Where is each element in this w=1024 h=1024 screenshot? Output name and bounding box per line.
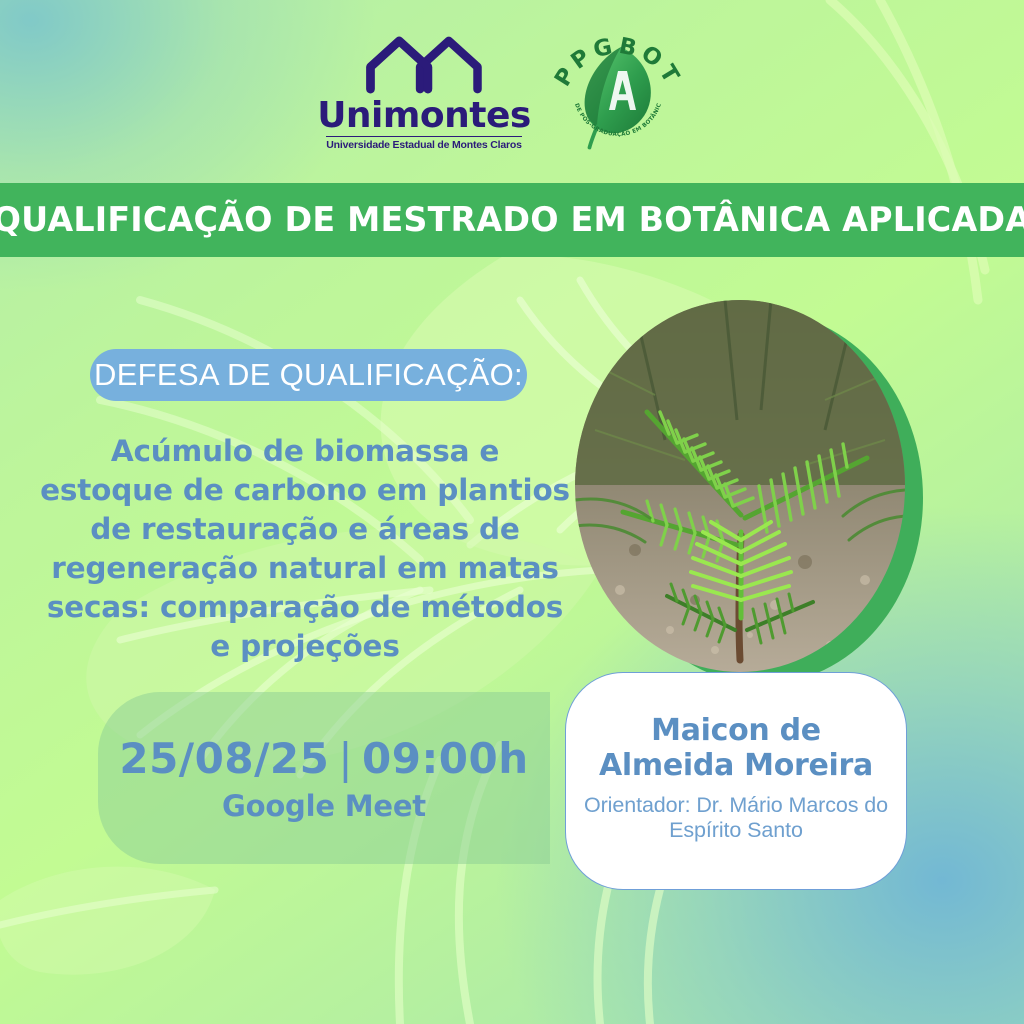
event-datetime-line: 25/08/25|09:00h [119, 734, 528, 783]
event-separator: | [329, 734, 362, 783]
photo-container [575, 300, 925, 690]
event-date: 25/08/25 [119, 734, 329, 783]
defesa-badge-label: DEFESA DE QUALIFICAÇÃO: [94, 357, 523, 393]
unimontes-wordmark: Unimontes [317, 98, 531, 134]
thesis-title: Acúmulo de biomassa e estoque de carbono… [40, 432, 570, 666]
interlocking-chevrons-icon [358, 33, 490, 95]
header-logos: Unimontes Universidade Estadual de Monte… [0, 0, 1024, 183]
event-time: 09:00h [362, 734, 529, 783]
poster-root: Unimontes Universidade Estadual de Monte… [0, 0, 1024, 1024]
title-band-text: QUALIFICAÇÃO DE MESTRADO EM BOTÂNICA APL… [0, 200, 1024, 240]
event-platform: Google Meet [222, 789, 426, 823]
advisor-name: Orientador: Dr. Mário Marcos do Espírito… [582, 793, 890, 844]
unimontes-subtitle: Universidade Estadual de Montes Claros [326, 136, 521, 151]
seedling-photo [575, 300, 905, 672]
unimontes-logo: Unimontes Universidade Estadual de Monte… [332, 33, 517, 151]
event-date-card: 25/08/25|09:00h Google Meet [98, 692, 550, 864]
ppgbot-logo: PPGBOT PROGRAMA DE PÓS-GRADUAÇÃO EM BOTÂ… [543, 14, 693, 164]
title-band: QUALIFICAÇÃO DE MESTRADO EM BOTÂNICA APL… [0, 183, 1024, 257]
presenter-name: Maicon de Almeida Moreira [582, 714, 890, 782]
defesa-badge: DEFESA DE QUALIFICAÇÃO: [90, 349, 527, 401]
presenter-card: Maicon de Almeida Moreira Orientador: Dr… [565, 672, 907, 890]
